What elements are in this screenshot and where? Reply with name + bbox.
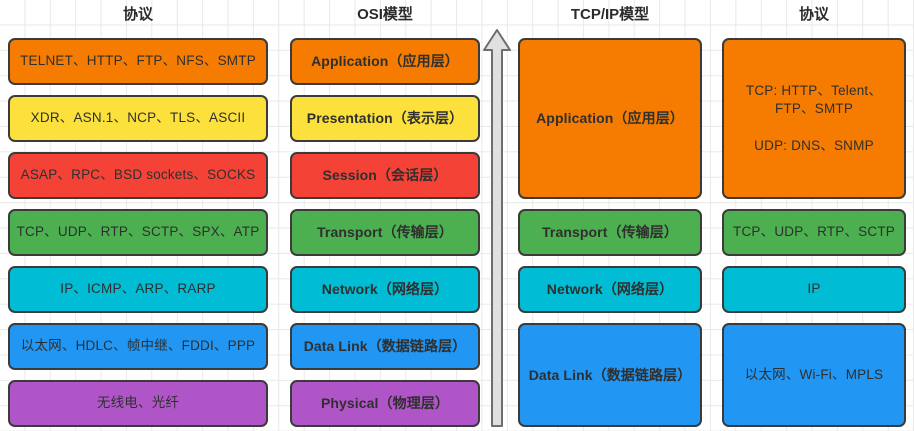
box-tcpip-network-protocols[interactable]: IP — [722, 266, 906, 313]
column-header-protocols-osi: 协议 — [8, 4, 268, 26]
box-label: TCP: HTTP、Telent、 FTP、SMTP UDP: DNS、SNMP — [746, 82, 882, 155]
box-tcpip-application-protocols[interactable]: TCP: HTTP、Telent、 FTP、SMTP UDP: DNS、SNMP — [722, 38, 906, 199]
box-application-protocols[interactable]: TELNET、HTTP、FTP、NFS、SMTP — [8, 38, 268, 85]
box-label: Data Link（数据链路层） — [304, 337, 467, 356]
box-tcpip-layer-network[interactable]: Network（网络层） — [518, 266, 702, 313]
box-label: Transport（传输层） — [542, 223, 678, 242]
box-label: XDR、ASN.1、NCP、TLS、ASCII — [31, 109, 246, 127]
box-label: Presentation（表示层） — [307, 109, 464, 128]
box-osi-layer-transport[interactable]: Transport（传输层） — [290, 209, 480, 256]
box-network-protocols[interactable]: IP、ICMP、ARP、RARP — [8, 266, 268, 313]
box-osi-layer-application[interactable]: Application（应用层） — [290, 38, 480, 85]
box-label: Session（会话层） — [323, 166, 448, 185]
box-label: 以太网、HDLC、帧中继、FDDI、PPP — [21, 337, 255, 355]
box-transport-protocols[interactable]: TCP、UDP、RTP、SCTP、SPX、ATP — [8, 209, 268, 256]
box-label: ASAP、RPC、BSD sockets、SOCKS — [21, 166, 256, 184]
diagram-canvas: 协议 OSI模型 TCP/IP模型 协议 TELNET、HTTP、FTP、NFS… — [0, 0, 914, 431]
box-tcpip-layer-application[interactable]: Application（应用层） — [518, 38, 702, 199]
box-osi-layer-datalink[interactable]: Data Link（数据链路层） — [290, 323, 480, 370]
column-header-osi-model: OSI模型 — [290, 4, 480, 26]
box-tcpip-datalink-protocols[interactable]: 以太网、Wi-Fi、MPLS — [722, 323, 906, 427]
box-label: Application（应用层） — [536, 109, 684, 128]
box-osi-layer-session[interactable]: Session（会话层） — [290, 152, 480, 199]
box-label: TELNET、HTTP、FTP、NFS、SMTP — [20, 52, 256, 70]
box-label: TCP、UDP、RTP、SCTP — [733, 223, 895, 241]
box-osi-layer-network[interactable]: Network（网络层） — [290, 266, 480, 313]
box-tcpip-transport-protocols[interactable]: TCP、UDP、RTP、SCTP — [722, 209, 906, 256]
box-label: Network（网络层） — [547, 280, 673, 299]
box-physical-protocols[interactable]: 无线电、光纤 — [8, 380, 268, 427]
box-datalink-protocols[interactable]: 以太网、HDLC、帧中继、FDDI、PPP — [8, 323, 268, 370]
box-label: IP、ICMP、ARP、RARP — [60, 280, 215, 298]
box-osi-layer-presentation[interactable]: Presentation（表示层） — [290, 95, 480, 142]
box-label: 以太网、Wi-Fi、MPLS — [745, 366, 884, 384]
box-label: Network（网络层） — [322, 280, 448, 299]
column-header-tcpip-model: TCP/IP模型 — [518, 4, 702, 26]
box-label: 无线电、光纤 — [97, 394, 179, 412]
box-presentation-protocols[interactable]: XDR、ASN.1、NCP、TLS、ASCII — [8, 95, 268, 142]
box-label: Data Link（数据链路层） — [529, 366, 692, 385]
box-label: IP — [807, 280, 820, 298]
box-session-protocols[interactable]: ASAP、RPC、BSD sockets、SOCKS — [8, 152, 268, 199]
column-header-protocols-tcpip: 协议 — [722, 4, 906, 26]
box-label: TCP、UDP、RTP、SCTP、SPX、ATP — [17, 223, 260, 241]
box-tcpip-layer-transport[interactable]: Transport（传输层） — [518, 209, 702, 256]
box-osi-layer-physical[interactable]: Physical（物理层） — [290, 380, 480, 427]
box-label: Transport（传输层） — [317, 223, 453, 242]
upward-encapsulation-arrow — [482, 28, 512, 428]
box-tcpip-layer-datalink[interactable]: Data Link（数据链路层） — [518, 323, 702, 427]
box-label: Physical（物理层） — [321, 394, 449, 413]
box-label: Application（应用层） — [311, 52, 459, 71]
